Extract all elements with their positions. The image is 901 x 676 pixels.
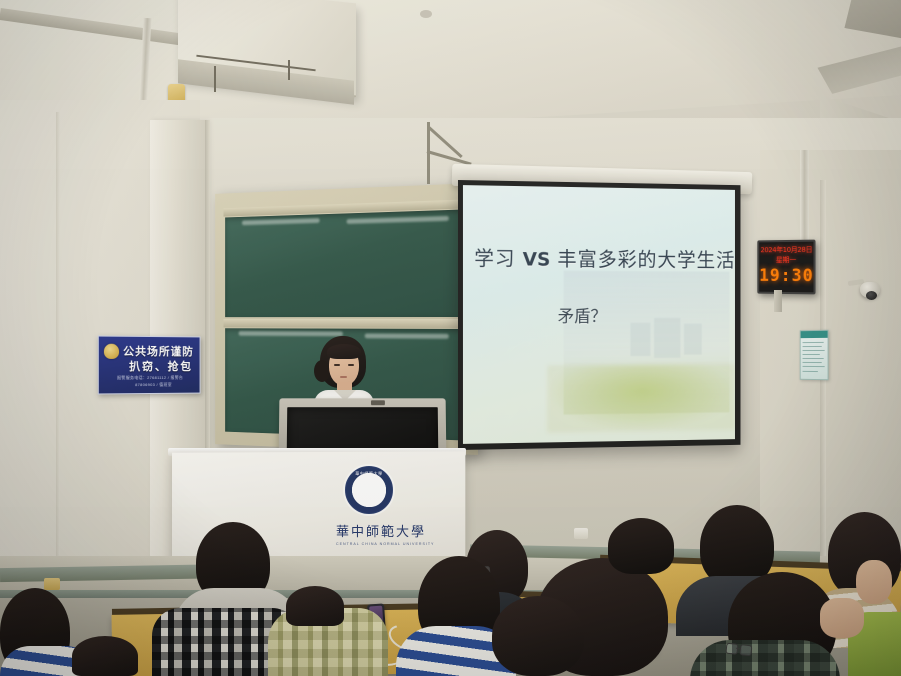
- smoke-detector-icon: [420, 10, 432, 18]
- audience-head: [492, 596, 584, 676]
- wall-seam: [56, 112, 60, 582]
- projection-screen-surface: 学习 VS 丰富多彩的大学生活 矛盾？: [463, 185, 735, 444]
- camera-lens: [866, 291, 877, 300]
- audience-hand: [856, 560, 892, 604]
- notice-line-2: 扒窃、抢包: [129, 358, 193, 374]
- audience-head: [286, 586, 344, 626]
- lecturer-mouth: [340, 376, 347, 378]
- lecturer-hair-bun: [314, 360, 330, 382]
- police-badge-icon: [104, 344, 119, 359]
- clock-mount: [774, 290, 782, 312]
- slide-title-vs: VS: [523, 249, 551, 271]
- classroom-notice-poster: [800, 330, 829, 381]
- slide-title: 学习 VS 丰富多彩的大学生活: [474, 242, 729, 272]
- seal-arc-text: 華中師範大學: [346, 471, 392, 477]
- hanging-wire: [288, 60, 290, 80]
- university-name-en: CENTRAL CHINA NORMAL UNIVERSITY: [336, 542, 402, 546]
- lecture-hall-photo: 公共场所谨防 扒窃、抢包 报警服务电话：27681112 / 报警台 87806…: [0, 0, 901, 676]
- chalk-rail-middle: [223, 319, 468, 328]
- monitor-logo: [371, 400, 385, 405]
- clock-weekday: 星期一: [759, 255, 813, 265]
- clock-date: 2024年10月28日: [759, 245, 813, 255]
- university-seal-icon: 華中師範大學 華大: [345, 466, 393, 514]
- audience-hand: [820, 598, 864, 638]
- led-clock: 2024年10月28日 星期一 19:30: [757, 240, 815, 295]
- audience-shoulders: [690, 640, 840, 676]
- slide-foliage: [547, 364, 735, 432]
- slide-title-part2: 丰富多彩的大学生活: [557, 247, 735, 272]
- poster-header: [801, 331, 828, 338]
- audience-head: [608, 518, 674, 574]
- clock-time: 19:30: [759, 266, 813, 286]
- university-logo: 華中師範大學 華大 華中師範大學 CENTRAL CHINA NORMAL UN…: [336, 466, 402, 550]
- slide-title-part1: 学习: [474, 246, 515, 270]
- power-outlet-icon: [44, 578, 60, 590]
- audience-head: [72, 636, 138, 676]
- slide-subtitle: 矛盾？: [558, 302, 607, 327]
- wall-pipe-right: [800, 150, 809, 240]
- notice-line-1: 公共场所谨防: [123, 343, 194, 359]
- glasses-icon: [726, 643, 753, 655]
- blackboard-panel-top: [225, 209, 466, 317]
- hanging-wire: [214, 66, 216, 92]
- right-wall: [760, 150, 901, 570]
- lecturer-fringe: [327, 344, 361, 359]
- wall-switch-icon: [574, 528, 588, 539]
- projection-screen: 学习 VS 丰富多彩的大学生活 矛盾？: [458, 180, 740, 450]
- wall-notice-sign: 公共场所谨防 扒窃、抢包 报警服务电话：27681112 / 报警台 87806…: [98, 336, 201, 395]
- seal-glyph: 華大: [346, 481, 392, 496]
- lecturer-eye-right: [348, 364, 354, 366]
- notice-line-4: 87806903 / 值班室: [135, 382, 172, 388]
- notice-line-3: 报警服务电话：27681112 / 报警台: [117, 375, 183, 381]
- lecturer-eye-left: [334, 364, 340, 366]
- university-name-cn: 華中師範大學: [336, 521, 402, 540]
